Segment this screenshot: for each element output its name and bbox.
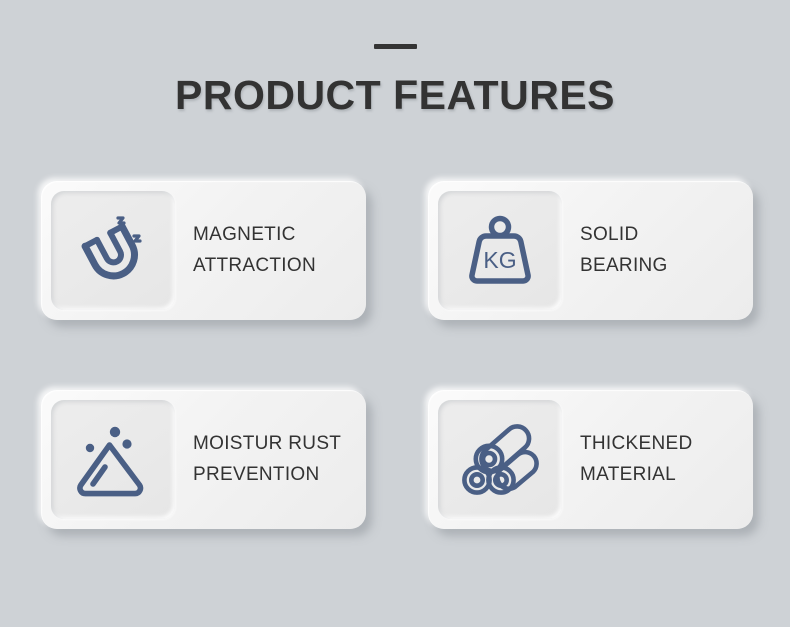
icon-panel bbox=[51, 191, 175, 310]
card-label: MAGNETIC ATTRACTION bbox=[175, 220, 356, 282]
icon-panel: KG bbox=[438, 191, 562, 310]
feature-card-thickened-material[interactable]: THICKENED MATERIAL bbox=[428, 390, 753, 529]
kg-weight-icon: KG bbox=[463, 212, 537, 290]
card-label: THICKENED MATERIAL bbox=[562, 429, 743, 491]
page-title: PRODUCT FEATURES bbox=[0, 75, 790, 116]
card-label: SOLID BEARING bbox=[562, 220, 743, 282]
page-header: PRODUCT FEATURES bbox=[0, 0, 790, 116]
icon-panel bbox=[438, 400, 562, 519]
feature-card-moisture-rust-prevention[interactable]: MOISTUR RUST PREVENTION bbox=[41, 390, 366, 529]
kg-icon-text: KG bbox=[483, 247, 516, 273]
icon-panel bbox=[51, 400, 175, 519]
moisture-triangle-icon bbox=[74, 422, 152, 498]
card-label: MOISTUR RUST PREVENTION bbox=[175, 429, 356, 491]
title-divider bbox=[374, 44, 417, 49]
feature-card-magnetic-attraction[interactable]: MAGNETIC ATTRACTION bbox=[41, 181, 366, 320]
feature-card-solid-bearing[interactable]: KG SOLID BEARING bbox=[428, 181, 753, 320]
feature-cards-grid: MAGNETIC ATTRACTION KG SOLID BEARING MOI… bbox=[41, 181, 753, 529]
stacked-pipes-icon bbox=[460, 423, 540, 497]
magnet-icon bbox=[74, 212, 152, 290]
